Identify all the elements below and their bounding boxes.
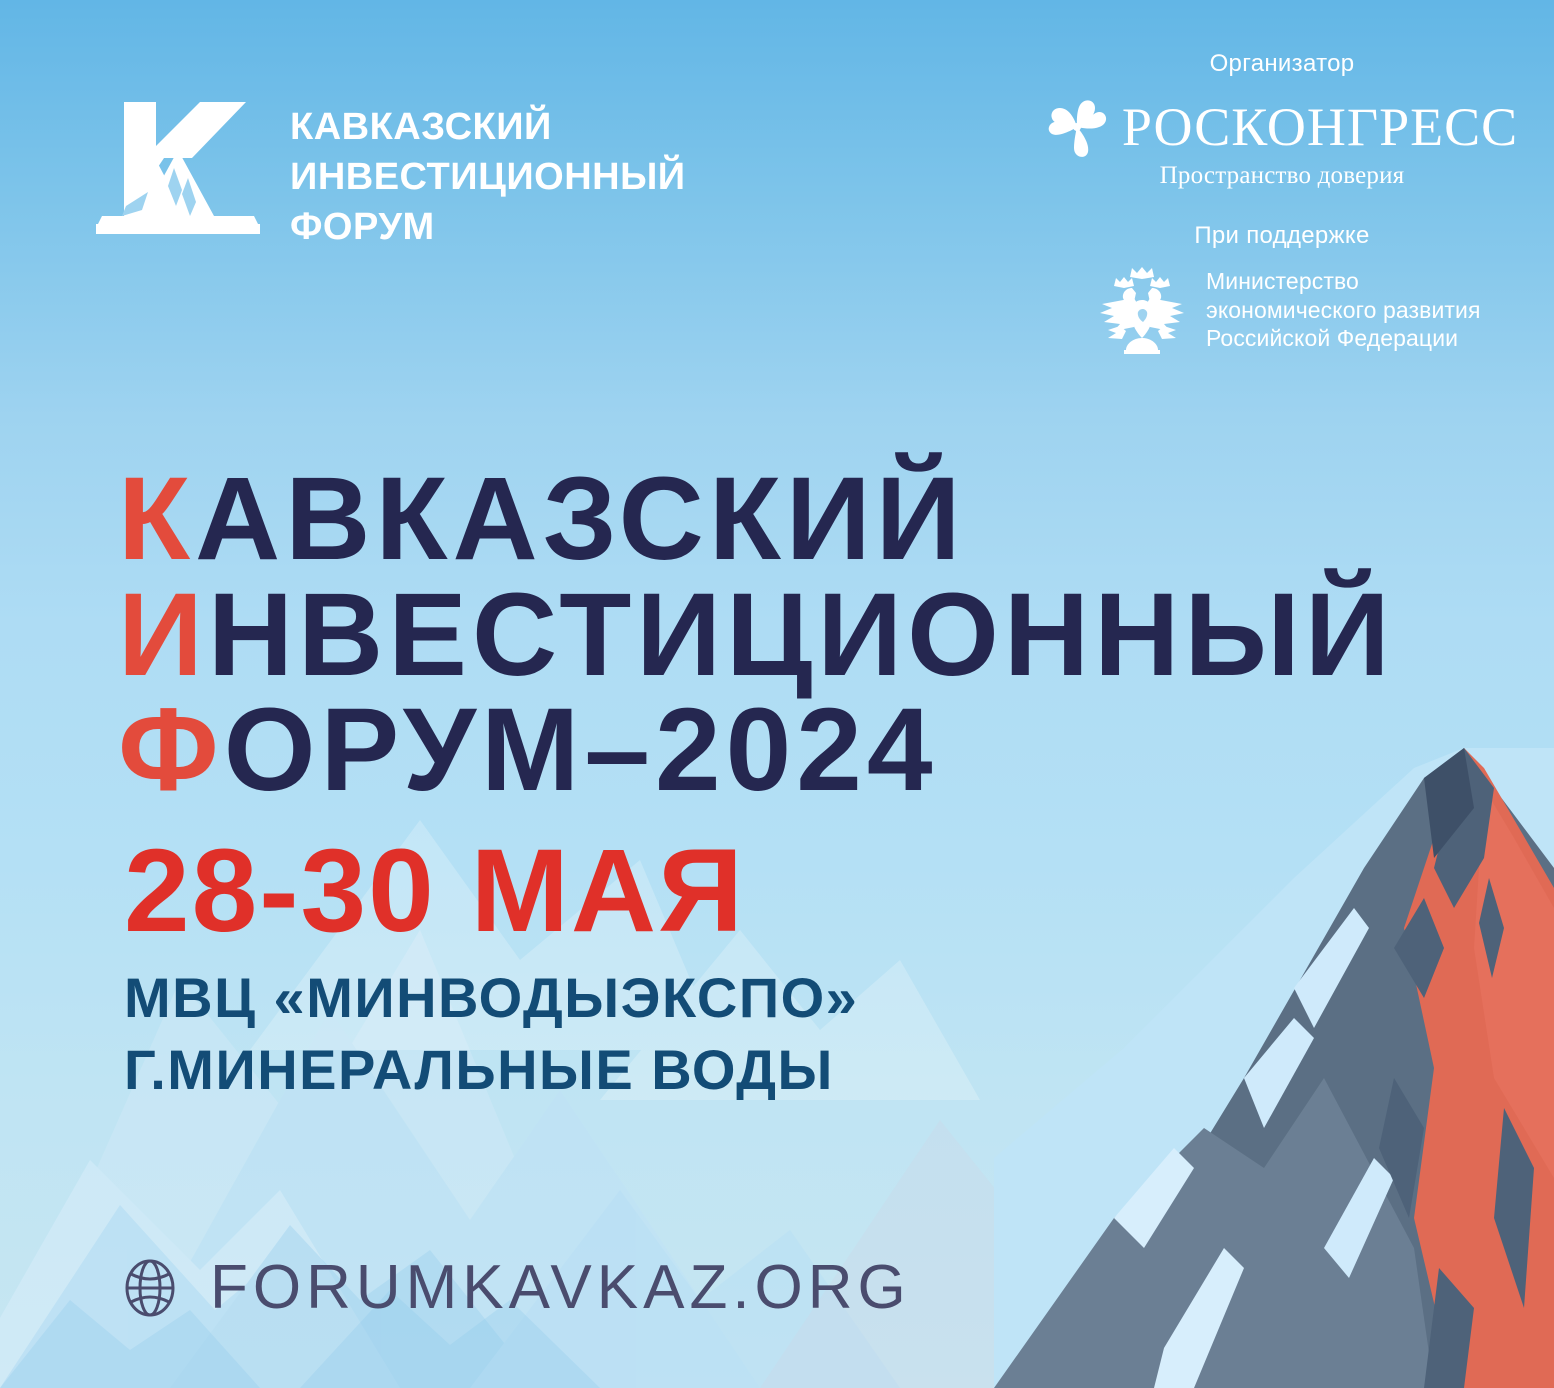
ministry-name: Министерство экономического развития Рос… (1206, 267, 1481, 354)
organizer-caption: Организатор (1072, 50, 1492, 78)
headline-accent-f: Ф (118, 684, 224, 816)
forum-brand-lockup: КАВКАЗСКИЙ ИНВЕСТИЦИОННЫЙ ФОРУМ (96, 98, 686, 252)
venue-line-2: Г.МИНЕРАЛЬНЫЕ ВОДЫ (124, 1034, 858, 1106)
low-poly-mountain-peak (994, 748, 1554, 1388)
headline-rest-3: ОРУМ–2024 (224, 684, 938, 816)
russian-double-headed-eagle-emblem-icon (1094, 264, 1190, 356)
headline-rest-1: АВКАЗСКИЙ (195, 453, 966, 585)
event-venue: МВЦ «МИНВОДЫЭКСПО» Г.МИНЕРАЛЬНЫЕ ВОДЫ (124, 962, 858, 1105)
website-url-text: FORUMKAVKAZ.ORG (210, 1252, 911, 1323)
globe-icon (120, 1258, 180, 1318)
support-logo-row: Министерство экономического развития Рос… (1072, 264, 1492, 356)
headline-rest-2: НВЕСТИЦИОННЫЙ (208, 569, 1395, 701)
venue-line-1: МВЦ «МИНВОДЫЭКСПО» (124, 962, 858, 1034)
headline-line-3: ФОРУМ–2024 (118, 693, 1395, 809)
website-link[interactable]: FORUMKAVKAZ.ORG (120, 1252, 911, 1323)
support-caption: При поддержке (1072, 222, 1492, 250)
headline-accent-i: И (118, 569, 208, 701)
headline-accent-k: К (118, 453, 195, 585)
organizer-logo-row: РОСКОНГРЕСС (1072, 96, 1492, 158)
organizer-name: РОСКОНГРЕСС (1122, 100, 1518, 154)
forum-brand-name: КАВКАЗСКИЙ ИНВЕСТИЦИОННЫЙ ФОРУМ (290, 98, 686, 252)
event-dates: 28-30 МАЯ (124, 832, 745, 950)
headline-line-1: КАВКАЗСКИЙ (118, 462, 1395, 578)
page-title: КАВКАЗСКИЙ ИНВЕСТИЦИОННЫЙ ФОРУМ–2024 (118, 462, 1395, 809)
poster-header: КАВКАЗСКИЙ ИНВЕСТИЦИОННЫЙ ФОРУМ Организа… (0, 0, 1554, 380)
roscongress-pinwheel-logo-icon (1046, 96, 1108, 158)
headline-line-2: ИНВЕСТИЦИОННЫЙ (118, 578, 1395, 694)
organizer-tagline: Пространство доверия (1072, 162, 1492, 190)
poster-canvas: КАВКАЗСКИЙ ИНВЕСТИЦИОННЫЙ ФОРУМ Организа… (0, 0, 1554, 1388)
kavkaz-mountain-k-logo-icon (96, 98, 260, 236)
organizer-block: Организатор РОСКОНГРЕСС Пространство дов… (1072, 50, 1492, 190)
support-block: При поддержке (1072, 222, 1492, 356)
